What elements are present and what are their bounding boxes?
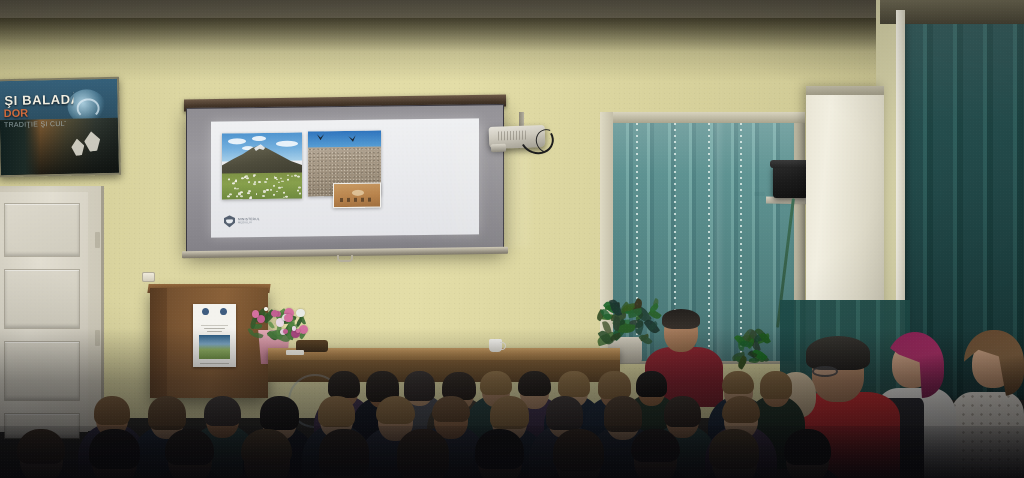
sheep bbox=[256, 193, 258, 194]
audience-person-hair bbox=[475, 429, 524, 469]
sheep bbox=[229, 194, 232, 196]
sheep bbox=[287, 179, 289, 181]
sheep bbox=[273, 185, 275, 186]
flower-bloom bbox=[264, 307, 269, 312]
audience-person-hair bbox=[664, 396, 701, 427]
flower-bouquet bbox=[246, 300, 308, 338]
eyeglasses-icon bbox=[812, 366, 838, 377]
audience-person-hair bbox=[490, 396, 529, 429]
audience-person-hair bbox=[319, 429, 368, 476]
wall-top-shadow bbox=[0, 18, 1024, 52]
audience-person-hair bbox=[241, 429, 292, 464]
flyer-logo-icon-1 bbox=[202, 308, 209, 315]
photo-inset-terrain bbox=[333, 183, 381, 209]
sheep bbox=[276, 178, 278, 179]
audience-person-hair bbox=[558, 371, 589, 397]
flyer-divider bbox=[201, 325, 228, 326]
audience-person-hair bbox=[397, 429, 449, 476]
flyer-logo-icon-2 bbox=[220, 308, 227, 315]
woman-floral-pattern bbox=[950, 392, 1024, 478]
sheep bbox=[263, 190, 266, 192]
pillar-trim bbox=[806, 86, 884, 95]
flower-bloom bbox=[296, 329, 300, 333]
slide-logo-text: MINISTERUL MEDIULUI bbox=[238, 218, 260, 225]
window-lintel bbox=[600, 112, 805, 123]
man-with-glasses-red-jacket-hair bbox=[806, 336, 870, 370]
podium-flyer bbox=[193, 304, 236, 367]
sheep bbox=[266, 178, 268, 180]
audience-person-hair bbox=[260, 396, 299, 430]
poster-caption: TRADIŢIE ŞI CULTURĂ bbox=[4, 121, 66, 129]
poster-subtitle: DOR bbox=[4, 107, 72, 120]
slide-logo-line2: MEDIULUI bbox=[238, 222, 260, 225]
sheep bbox=[245, 175, 247, 177]
wall-poster: ŞI BALADĂ DOR TRADIŢIE ŞI CULTURĂ bbox=[0, 77, 121, 178]
sheep bbox=[273, 194, 275, 195]
inset-caption-line bbox=[340, 198, 374, 202]
audience-person-hair bbox=[165, 429, 214, 465]
door-panel-3 bbox=[5, 342, 79, 400]
audience-person-hair bbox=[784, 429, 832, 465]
plant-leaf bbox=[748, 357, 759, 364]
sheep bbox=[240, 195, 243, 197]
potted-plant-window-left bbox=[592, 300, 662, 342]
sheep bbox=[248, 181, 250, 182]
door-panel-2 bbox=[5, 270, 79, 328]
audience-person-hair bbox=[518, 371, 551, 395]
audience-person-hair bbox=[94, 396, 130, 425]
audience-person-hair bbox=[17, 429, 65, 464]
sheep bbox=[232, 183, 234, 185]
audience-person-hair bbox=[604, 396, 642, 432]
poster-title: ŞI BALADĂ bbox=[4, 92, 73, 108]
audience-person-hair bbox=[432, 396, 470, 422]
presenter-in-maroon-hair bbox=[662, 309, 700, 329]
door-panel-1 bbox=[5, 204, 79, 256]
flower-bloom bbox=[299, 325, 309, 335]
flyer-text-block bbox=[201, 328, 228, 333]
white-cup[interactable] bbox=[489, 339, 502, 352]
audience-person-hair bbox=[722, 371, 754, 394]
sheep bbox=[246, 177, 249, 179]
wall-speaker bbox=[773, 164, 808, 198]
audience-person-hair bbox=[89, 429, 139, 469]
audience-person-hair bbox=[148, 396, 186, 430]
audience-person-hair bbox=[631, 429, 679, 462]
sheep bbox=[244, 177, 246, 178]
flyer-footer-line bbox=[200, 363, 229, 364]
sheep bbox=[298, 186, 301, 188]
audience-person-hair bbox=[546, 396, 583, 430]
slide-logo: MINISTERUL MEDIULUI bbox=[224, 215, 260, 227]
audience-person-hair bbox=[636, 371, 666, 396]
sheep bbox=[276, 190, 278, 191]
shield-icon bbox=[224, 215, 235, 227]
audience-person-hair bbox=[328, 371, 359, 398]
audience-person-hair bbox=[376, 396, 416, 424]
bouquet-leaf bbox=[267, 321, 275, 330]
flower-bloom bbox=[296, 309, 304, 317]
sheep bbox=[266, 189, 268, 191]
sheep bbox=[250, 196, 253, 198]
door-latch-lower[interactable] bbox=[95, 330, 100, 346]
sheep bbox=[285, 196, 288, 198]
white-paper[interactable] bbox=[286, 350, 304, 355]
audience-person-hair bbox=[760, 371, 791, 399]
door-latch-upper[interactable] bbox=[95, 232, 100, 248]
sheep bbox=[278, 187, 281, 189]
speaker-top-plate bbox=[770, 160, 811, 168]
photo-mountain-sheep bbox=[222, 133, 302, 200]
audience-person-hair bbox=[204, 396, 241, 426]
sheep bbox=[253, 175, 255, 176]
audience-person-hair bbox=[480, 371, 512, 395]
blind-chain-4[interactable] bbox=[740, 123, 742, 361]
flyer-logos bbox=[197, 308, 232, 320]
room-scene: ŞI BALADĂ DOR TRADIŢIE ŞI CULTURĂ bbox=[0, 0, 1024, 478]
sheep bbox=[280, 177, 282, 178]
projector-lens bbox=[491, 144, 506, 153]
podium-side bbox=[150, 288, 167, 398]
potted-plant-window-right bbox=[728, 330, 772, 368]
audience-person-hair bbox=[709, 429, 759, 469]
left-panel-door[interactable] bbox=[0, 192, 88, 432]
flower-bloom bbox=[284, 314, 292, 322]
screen-pull-handle[interactable] bbox=[337, 255, 353, 262]
audience-person-hair bbox=[598, 371, 630, 399]
presentation-slide: MINISTERUL MEDIULUI bbox=[211, 118, 479, 237]
blind-chain-3[interactable] bbox=[708, 123, 710, 361]
audience-person-hair bbox=[722, 396, 760, 423]
sheep bbox=[281, 180, 283, 182]
wall-socket[interactable] bbox=[142, 272, 155, 282]
sheep bbox=[294, 174, 297, 176]
flyer-photo bbox=[199, 335, 230, 359]
flower-bloom bbox=[283, 329, 288, 334]
audience-person-hair bbox=[318, 396, 355, 427]
audience-person-hair bbox=[404, 371, 434, 401]
plant-leaf bbox=[759, 331, 771, 345]
sheep bbox=[270, 189, 272, 190]
audience-person-hair bbox=[553, 429, 604, 471]
